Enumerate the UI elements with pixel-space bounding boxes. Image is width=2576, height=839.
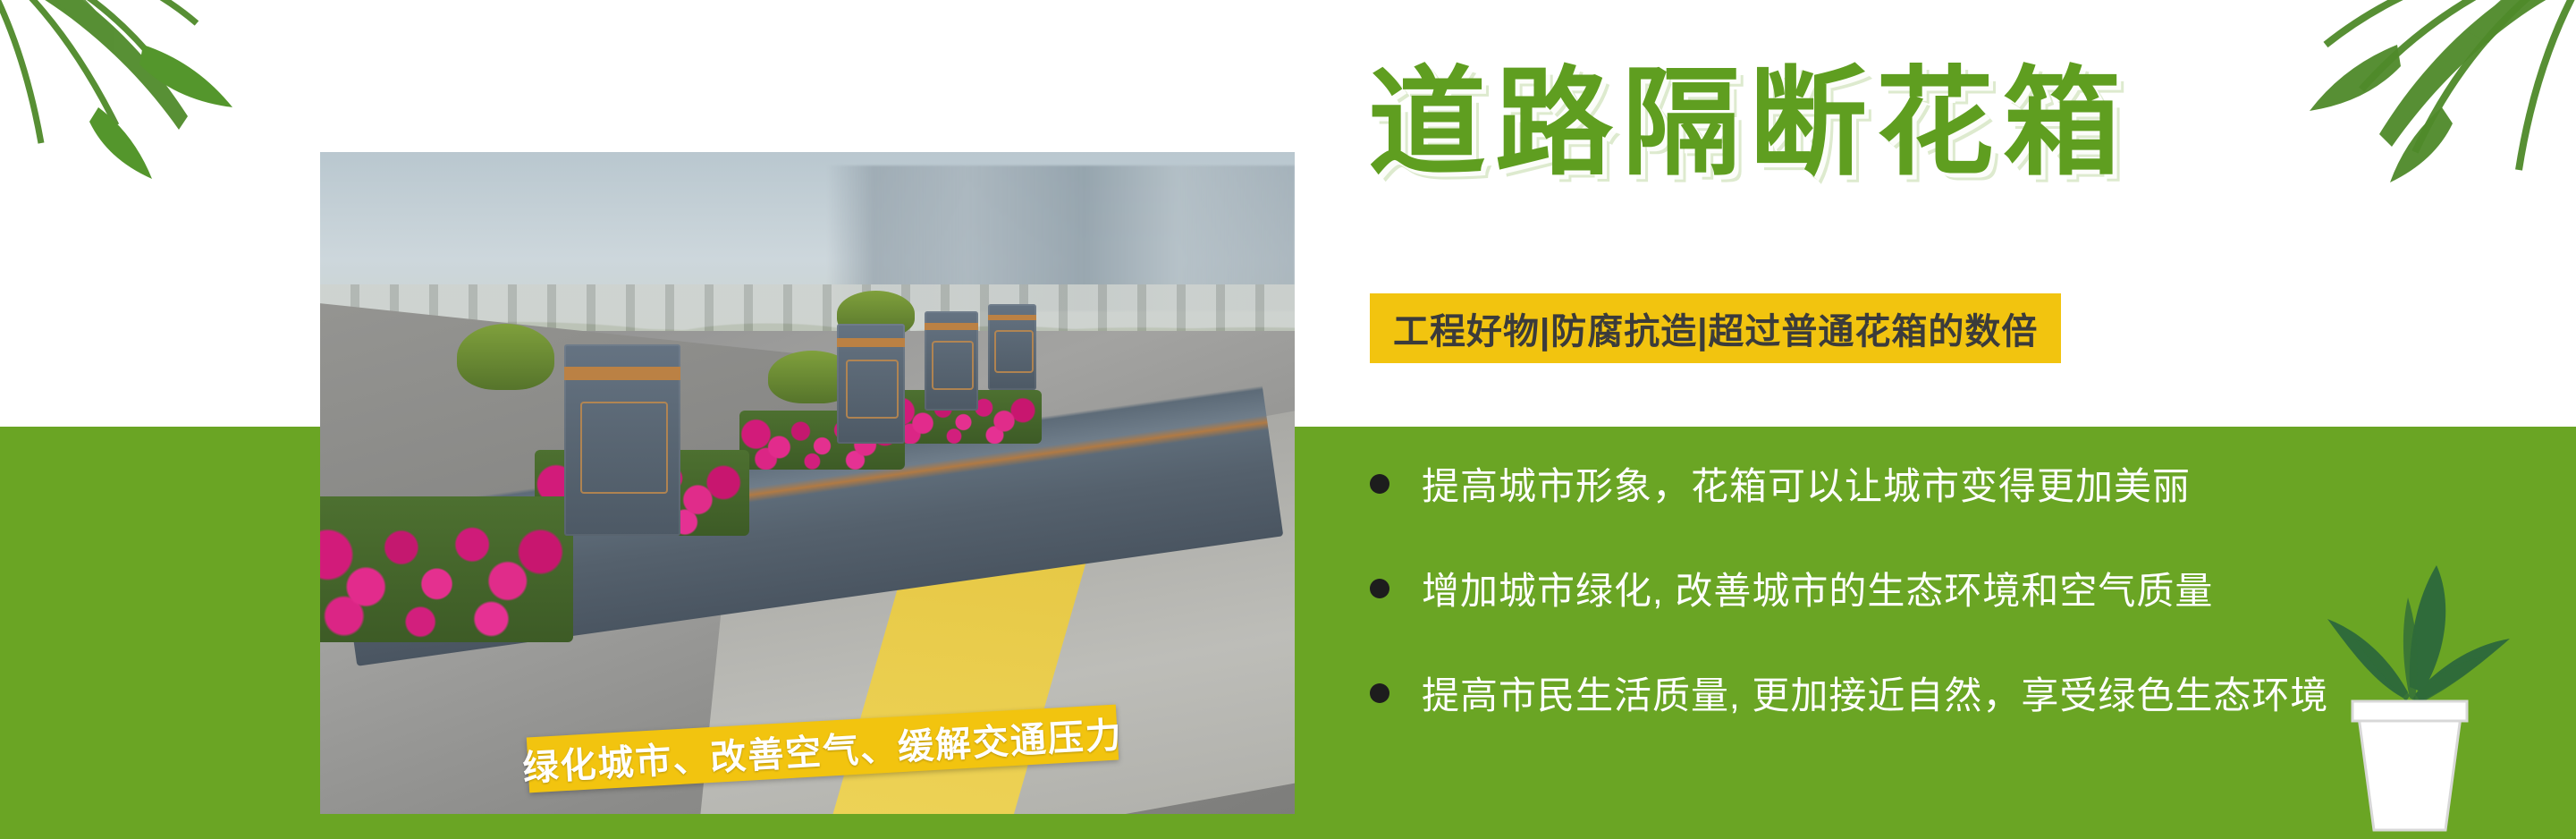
palm-frond-left-icon [0, 0, 340, 233]
bullet-dot-icon [1370, 474, 1389, 494]
list-item: 提高城市形象，花箱可以让城市变得更加美丽 [1370, 456, 2568, 511]
photo-planter-box [925, 311, 978, 411]
page-title: 道路隔断花箱 [1368, 64, 2130, 182]
promo-banner: 绿化城市、改善空气、缓解交通压力 道路隔断花箱 工程好物|防腐抗造|超过普通花箱… [0, 0, 2576, 839]
photo-planter-box [837, 324, 905, 443]
photo-planter-box [988, 304, 1037, 390]
bullet-dot-icon [1370, 683, 1389, 703]
photo-shrub [457, 324, 554, 390]
list-item-label: 增加城市绿化, 改善城市的生态环境和空气质量 [1422, 561, 2213, 615]
photo-planter-box [564, 344, 681, 537]
subtitle-text: 工程好物|防腐抗造|超过普通花箱的数倍 [1393, 302, 2038, 354]
bullet-dot-icon [1370, 579, 1389, 598]
product-photo-frame: 绿化城市、改善空气、缓解交通压力 [320, 152, 1295, 814]
subtitle-badge: 工程好物|防腐抗造|超过普通花箱的数倍 [1370, 293, 2061, 363]
text-column: 道路隔断花箱 工程好物|防腐抗造|超过普通花箱的数倍 提高城市形象，花箱可以让城… [1350, 0, 2576, 839]
list-item-label: 提高城市形象，花箱可以让城市变得更加美丽 [1422, 456, 2191, 511]
photo-flower-bed [320, 496, 573, 642]
product-photo: 绿化城市、改善空气、缓解交通压力 [320, 152, 1295, 814]
list-item-label: 提高市民生活质量, 更加接近自然，享受绿色生态环境 [1422, 665, 2328, 720]
potted-plant-icon [2302, 535, 2517, 839]
